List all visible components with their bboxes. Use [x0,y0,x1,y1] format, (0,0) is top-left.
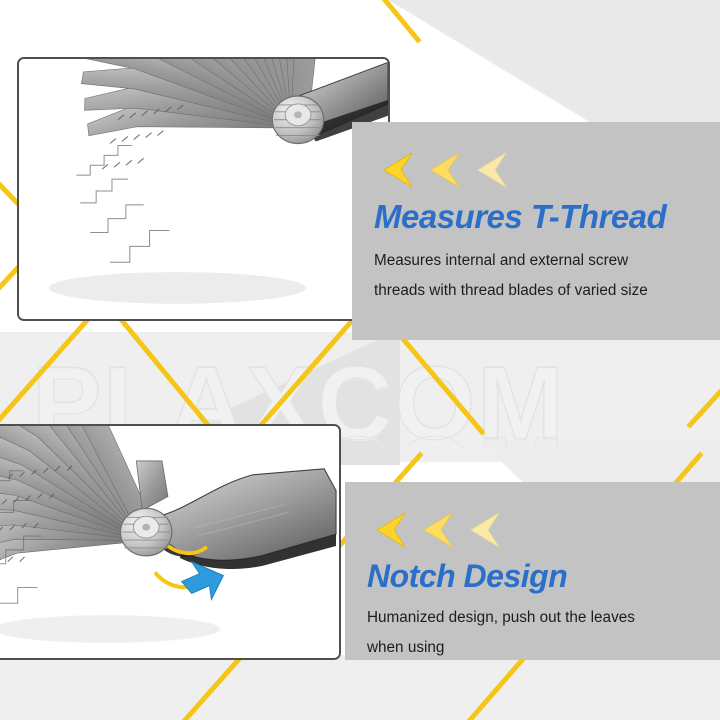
chevron-left-icon [421,148,465,192]
chevron-group [367,508,698,552]
chevron-left-icon [468,148,512,192]
chevron-left-icon [374,148,418,192]
feature-heading: Notch Design [367,558,698,595]
chevron-left-icon [461,508,505,552]
description-line: Measures internal and external screw [374,246,698,276]
description-line: threads with thread blades of varied siz… [374,276,698,306]
notch-detail-illustration [0,426,339,658]
chevron-group [374,148,698,192]
description-line: when using [367,633,698,663]
feature-heading: Measures T-Thread [374,198,698,236]
feature-panel-notch-design: Notch Design Humanized design, push out … [345,482,720,660]
product-photo-notch-detail [0,424,341,660]
infographic-canvas: PLAXCOM PLAXCOM [0,0,720,720]
chevron-left-icon [367,508,411,552]
chevron-left-icon [414,508,458,552]
feature-description: Humanized design, push out the leaves wh… [367,603,698,663]
feature-panel-measures-t-thread: Measures T-Thread Measures internal and … [352,122,720,340]
thread-gauge-illustration [19,59,388,319]
feature-description: Measures internal and external screw thr… [374,246,698,306]
description-line: Humanized design, push out the leaves [367,603,698,633]
product-photo-thread-gauge [17,57,390,321]
